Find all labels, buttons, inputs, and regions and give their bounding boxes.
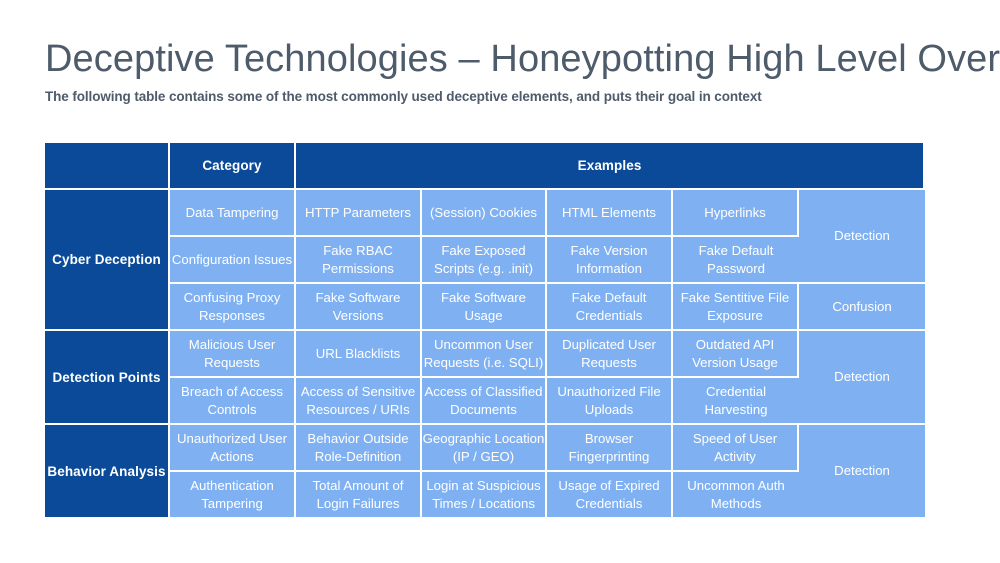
example-cell: Fake Sentitive File Exposure: [673, 284, 799, 331]
goal-cell: Detection: [799, 331, 925, 425]
example-cell: Uncommon User Requests (i.e. SQLI): [422, 331, 547, 378]
example-cell: Hyperlinks: [673, 190, 799, 237]
example-cell: Fake Software Versions: [296, 284, 422, 331]
example-cell: Outdated API Version Usage: [673, 331, 799, 378]
table-row: Detection PointsMalicious User RequestsU…: [45, 331, 925, 378]
example-cell: Browser Fingerprinting: [547, 425, 673, 472]
table-header-category: Category: [170, 143, 296, 190]
table-row: Breach of Access ControlsAccess of Sensi…: [45, 378, 925, 425]
example-cell: Fake RBAC Permissions: [296, 237, 422, 284]
table-header-row: Category Examples Goal: [45, 143, 925, 190]
table-header: Category Examples Goal: [45, 143, 925, 190]
page-title: Deceptive Technologies – Honeypotting Hi…: [45, 38, 1000, 82]
category-cell: Malicious User Requests: [170, 331, 296, 378]
table-header-examples: Examples: [296, 143, 925, 190]
example-cell: Usage of Expired Credentials: [547, 472, 673, 519]
slide-root: Deceptive Technologies – Honeypotting Hi…: [0, 0, 1000, 563]
table-body: Cyber DeceptionData TamperingHTTP Parame…: [45, 190, 925, 519]
category-cell: Breach of Access Controls: [170, 378, 296, 425]
example-cell: Fake Software Usage: [422, 284, 547, 331]
example-cell: HTML Elements: [547, 190, 673, 237]
example-cell: Duplicated User Requests: [547, 331, 673, 378]
example-cell: Behavior Outside Role-Definition: [296, 425, 422, 472]
example-cell: Access of Sensitive Resources / URIs: [296, 378, 422, 425]
section-label-1: Cyber Deception: [45, 190, 170, 331]
example-cell: Geographic Location (IP / GEO): [422, 425, 547, 472]
example-cell: Speed of User Activity: [673, 425, 799, 472]
example-cell: HTTP Parameters: [296, 190, 422, 237]
example-cell: (Session) Cookies: [422, 190, 547, 237]
category-cell: Configuration Issues: [170, 237, 296, 284]
example-cell: Uncommon Auth Methods: [673, 472, 799, 519]
table-row: Behavior AnalysisUnauthorized User Actio…: [45, 425, 925, 472]
section-label-3: Behavior Analysis: [45, 425, 170, 519]
table-row: Confusing Proxy ResponsesFake Software V…: [45, 284, 925, 331]
goal-cell: Detection: [799, 425, 925, 519]
example-cell: Fake Version Information: [547, 237, 673, 284]
table-header-corner: [45, 143, 170, 190]
example-cell: Fake Default Password: [673, 237, 799, 284]
example-cell: URL Blacklists: [296, 331, 422, 378]
example-cell: Credential Harvesting: [673, 378, 799, 425]
category-cell: Confusing Proxy Responses: [170, 284, 296, 331]
table-row: Configuration IssuesFake RBAC Permission…: [45, 237, 925, 284]
example-cell: Unauthorized File Uploads: [547, 378, 673, 425]
table-row: Cyber DeceptionData TamperingHTTP Parame…: [45, 190, 925, 237]
category-cell: Unauthorized User Actions: [170, 425, 296, 472]
section-label-2: Detection Points: [45, 331, 170, 425]
page-subtitle: The following table contains some of the…: [45, 89, 762, 104]
example-cell: Fake Default Credentials: [547, 284, 673, 331]
goal-cell: Confusion: [799, 284, 925, 331]
category-cell: Authentication Tampering: [170, 472, 296, 519]
example-cell: Fake Exposed Scripts (e.g. .init): [422, 237, 547, 284]
category-cell: Data Tampering: [170, 190, 296, 237]
example-cell: Login at Suspicious Times / Locations: [422, 472, 547, 519]
example-cell: Total Amount of Login Failures: [296, 472, 422, 519]
example-cell: Access of Classified Documents: [422, 378, 547, 425]
deception-overview-table: Category Examples Goal Cyber DeceptionDa…: [45, 143, 925, 519]
table-row: Authentication TamperingTotal Amount of …: [45, 472, 925, 519]
goal-cell: Detection: [799, 190, 925, 284]
